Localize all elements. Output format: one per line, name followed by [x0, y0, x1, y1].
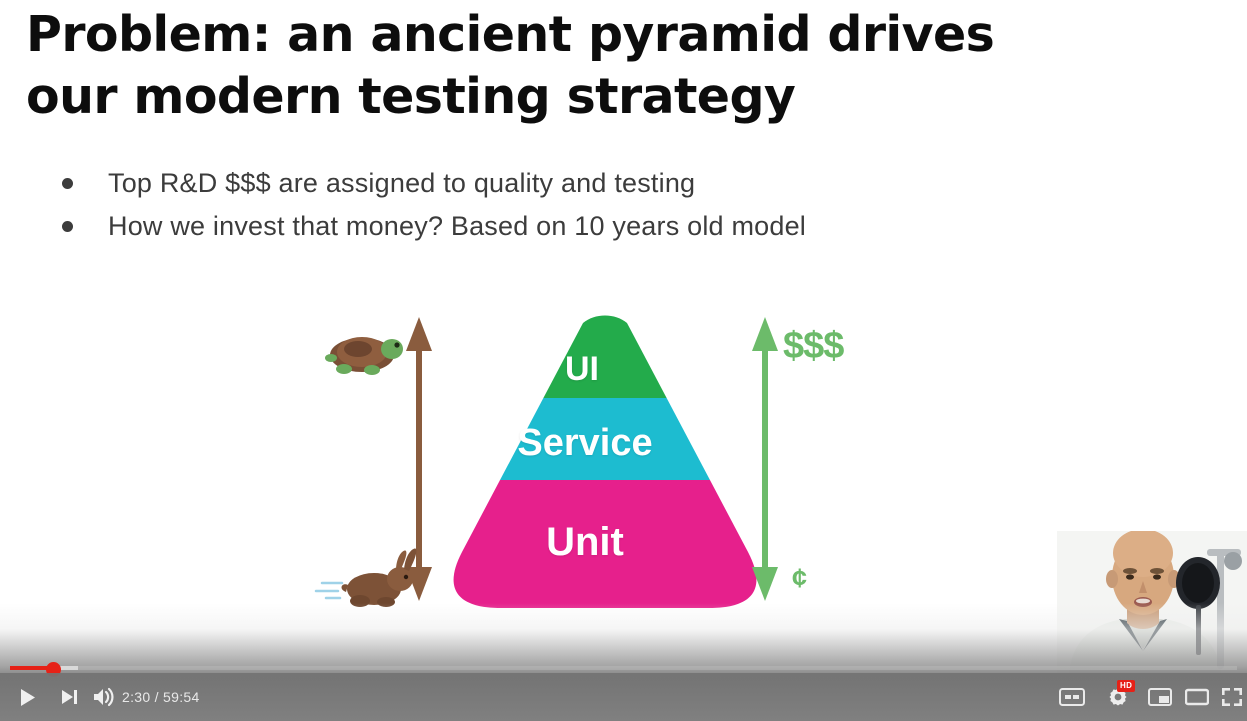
- testing-pyramid-diagram: UI Service Unit $$$ ¢: [300, 305, 920, 625]
- bullet-dot-icon: [62, 178, 73, 189]
- bullet-text: How we invest that money? Based on 10 ye…: [108, 211, 806, 241]
- cost-axis-arrow: [752, 317, 778, 601]
- next-video-button[interactable]: [55, 681, 85, 713]
- turtle-icon: [325, 337, 403, 375]
- miniplayer-icon: [1148, 688, 1172, 706]
- list-item: Top R&D $$$ are assigned to quality and …: [52, 162, 1102, 205]
- rabbit-icon: [316, 549, 416, 607]
- fullscreen-icon: [1221, 687, 1243, 707]
- time-display: 2:30 / 59:54: [122, 681, 200, 713]
- cost-axis-bottom-label: ¢: [792, 563, 807, 594]
- speaker-webcam-overlay: [1057, 531, 1247, 673]
- play-button[interactable]: [12, 681, 42, 713]
- list-item: How we invest that money? Based on 10 ye…: [52, 205, 1102, 248]
- settings-button[interactable]: HD: [1101, 681, 1135, 713]
- bullet-dot-icon: [62, 221, 73, 232]
- hd-badge: HD: [1117, 680, 1135, 692]
- theater-icon: [1185, 688, 1209, 706]
- page-title: Problem: an ancient pyramid drives our m…: [26, 4, 1096, 128]
- bullet-text: Top R&D $$$ are assigned to quality and …: [108, 168, 695, 198]
- cost-axis-top-label: $$$: [783, 325, 843, 368]
- pyramid-label-ui: UI: [522, 350, 642, 389]
- next-icon: [61, 689, 79, 705]
- pyramid-label-service: Service: [465, 422, 705, 465]
- progress-bar[interactable]: [0, 663, 1247, 673]
- miniplayer-button[interactable]: [1143, 681, 1177, 713]
- volume-icon: [93, 687, 115, 707]
- progress-track[interactable]: [10, 666, 1237, 670]
- player-control-bar: 2:30 / 59:54 HD: [0, 673, 1247, 721]
- pyramid-label-unit: Unit: [475, 520, 695, 565]
- play-icon: [19, 688, 36, 707]
- captions-button[interactable]: [1055, 681, 1089, 713]
- theater-mode-button[interactable]: [1180, 681, 1214, 713]
- bullet-list: Top R&D $$$ are assigned to quality and …: [52, 162, 1102, 248]
- speaker-video: [1057, 531, 1247, 673]
- video-player: Problem: an ancient pyramid drives our m…: [0, 0, 1247, 721]
- fullscreen-button[interactable]: [1215, 681, 1247, 713]
- volume-button[interactable]: [89, 681, 119, 713]
- cc-icon: [1059, 688, 1085, 706]
